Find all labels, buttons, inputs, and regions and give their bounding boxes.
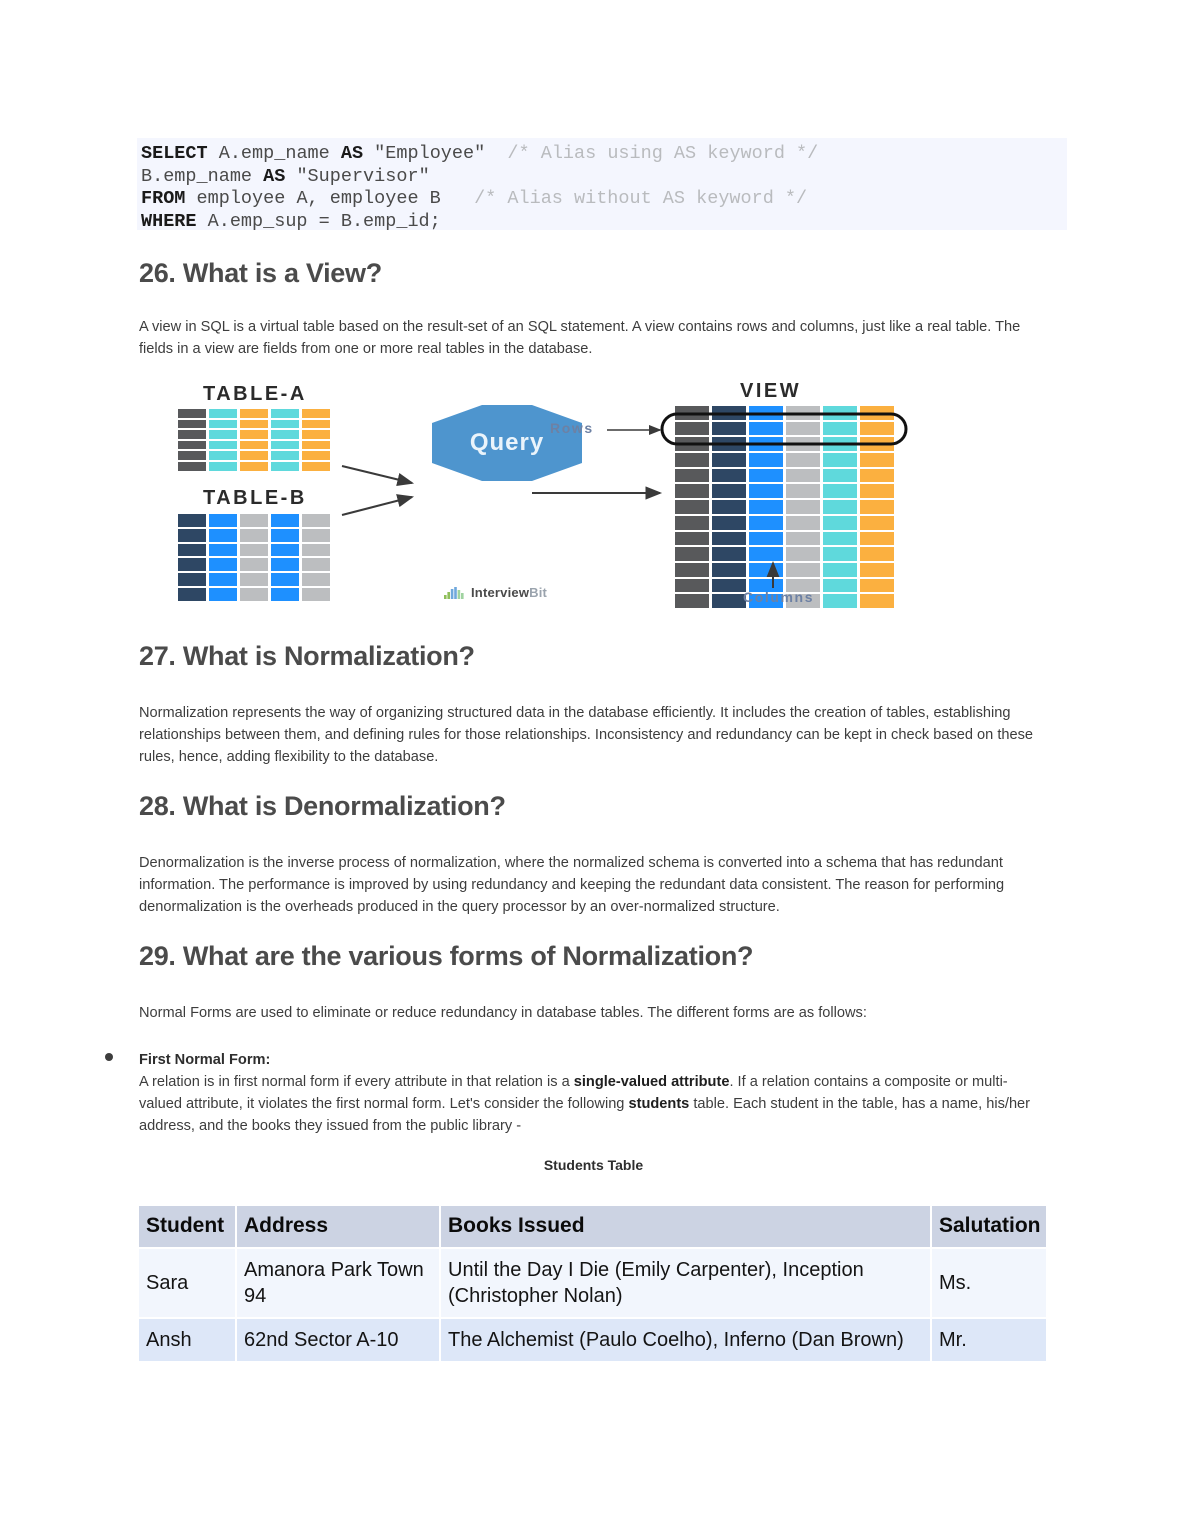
grid-cell (823, 453, 857, 467)
grid-cell (749, 484, 783, 498)
grid-cell (240, 430, 268, 439)
grid-cell (209, 573, 237, 586)
grid-column (302, 514, 330, 601)
grid-cell (823, 469, 857, 483)
grid-cell (860, 516, 894, 530)
paragraph-question-29: Normal Forms are used to eliminate or re… (139, 1002, 1039, 1024)
grid-cell (712, 484, 746, 498)
grid-cell (209, 451, 237, 460)
grid-cell (786, 563, 820, 577)
grid-cell (209, 544, 237, 557)
grid-cell (209, 529, 237, 542)
heading-question-29: 29. What are the various forms of Normal… (139, 941, 753, 972)
heading-question-28: 28. What is Denormalization? (139, 791, 506, 822)
diagram-label-columns: Columns (743, 589, 814, 605)
grid-cell (240, 514, 268, 527)
grid-cell (209, 588, 237, 601)
grid-cell (675, 422, 709, 436)
grid-cell (271, 588, 299, 601)
grid-cell (675, 500, 709, 514)
grid-cell (860, 469, 894, 483)
grid-cell (240, 573, 268, 586)
grid-cell (786, 516, 820, 530)
grid-cell (240, 558, 268, 571)
code-line-1: SELECT A.emp_name AS "Employee" /* Alias… (141, 143, 1067, 166)
grid-cell (178, 529, 206, 542)
grid-cell (209, 462, 237, 471)
interviewbit-logo-icon (443, 586, 467, 600)
grid-cell (178, 451, 206, 460)
grid-cell (178, 462, 206, 471)
grid-cell (749, 406, 783, 420)
grid-cell (823, 406, 857, 420)
grid-cell (302, 514, 330, 527)
query-label: Query (432, 429, 582, 457)
grid-cell (675, 516, 709, 530)
diagram-label-view: VIEW (740, 380, 801, 403)
grid-cell (712, 453, 746, 467)
grid-cell (712, 547, 746, 561)
table-row: Sara Amanora Park Town 94 Until the Day … (139, 1249, 1046, 1317)
grid-cell (860, 484, 894, 498)
grid-cell (712, 532, 746, 546)
grid-column (178, 514, 206, 601)
grid-cell (860, 406, 894, 420)
grid-cell (675, 453, 709, 467)
grid-cell (749, 422, 783, 436)
grid-cell (271, 462, 299, 471)
grid-column (271, 409, 299, 471)
students-table-caption: Students Table (0, 1157, 1187, 1173)
grid-cell (209, 558, 237, 571)
column-header-address: Address (237, 1206, 439, 1247)
grid-cell (178, 544, 206, 557)
grid-cell (675, 532, 709, 546)
grid-cell (749, 500, 783, 514)
cell-books-issued: The Alchemist (Paulo Coelho), Inferno (D… (441, 1319, 930, 1361)
grid-cell (860, 437, 894, 451)
grid-cell (271, 558, 299, 571)
grid-cell (786, 547, 820, 561)
grid-cell (749, 563, 783, 577)
grid-cell (240, 588, 268, 601)
column-header-books-issued: Books Issued (441, 1206, 930, 1247)
grid-cell (786, 422, 820, 436)
table-header-row: Student Address Books Issued Salutation (139, 1206, 1046, 1247)
grid-column (302, 409, 330, 471)
grid-cell (786, 406, 820, 420)
grid-cell (178, 409, 206, 418)
grid-cell (712, 500, 746, 514)
grid-cell (302, 573, 330, 586)
paragraph-question-26: A view in SQL is a virtual table based o… (139, 316, 1041, 360)
grid-column (209, 514, 237, 601)
grid-cell (860, 500, 894, 514)
grid-cell (240, 462, 268, 471)
cell-student: Sara (139, 1249, 235, 1317)
grid-cell (823, 594, 857, 608)
grid-cell (271, 420, 299, 429)
grid-cell (209, 514, 237, 527)
diagram-grid-table-a (178, 409, 330, 471)
grid-cell (240, 420, 268, 429)
grid-cell (786, 469, 820, 483)
grid-cell (749, 437, 783, 451)
diagram-label-table-a: TABLE-A (203, 383, 307, 406)
paragraph-question-27: Normalization represents the way of orga… (139, 702, 1044, 768)
grid-cell (302, 430, 330, 439)
grid-cell (675, 406, 709, 420)
grid-cell (302, 420, 330, 429)
grid-cell (178, 573, 206, 586)
heading-question-27: 27. What is Normalization? (139, 641, 475, 672)
grid-cell (712, 563, 746, 577)
grid-cell (823, 516, 857, 530)
grid-cell (749, 469, 783, 483)
cell-student: Ansh (139, 1319, 235, 1361)
grid-cell (675, 484, 709, 498)
view-diagram: TABLE-A TABLE-B VIEW (160, 375, 922, 615)
grid-cell (271, 573, 299, 586)
grid-cell (271, 514, 299, 527)
table-row: Ansh 62nd Sector A-10 The Alchemist (Pau… (139, 1319, 1046, 1361)
grid-cell (675, 547, 709, 561)
grid-column (240, 514, 268, 601)
grid-column (271, 514, 299, 601)
grid-cell (712, 469, 746, 483)
cell-salutation: Ms. (932, 1249, 1046, 1317)
grid-cell (823, 532, 857, 546)
grid-cell (302, 441, 330, 450)
grid-cell (786, 532, 820, 546)
grid-cell (178, 430, 206, 439)
grid-cell (749, 547, 783, 561)
grid-cell (749, 453, 783, 467)
grid-cell (786, 453, 820, 467)
bullet-marker-first-normal-form (105, 1053, 113, 1061)
grid-cell (860, 594, 894, 608)
grid-cell (712, 437, 746, 451)
grid-cell (240, 529, 268, 542)
grid-cell (749, 516, 783, 530)
paragraph-question-28: Denormalization is the inverse process o… (139, 852, 1033, 918)
sql-code-block: SELECT A.emp_name AS "Employee" /* Alias… (137, 138, 1067, 230)
grid-cell (271, 544, 299, 557)
grid-cell (675, 563, 709, 577)
grid-cell (209, 420, 237, 429)
grid-cell (860, 563, 894, 577)
grid-column (749, 406, 783, 608)
grid-cell (823, 579, 857, 593)
grid-cell (675, 594, 709, 608)
grid-cell (178, 514, 206, 527)
grid-cell (209, 430, 237, 439)
grid-cell (178, 441, 206, 450)
grid-cell (712, 406, 746, 420)
grid-cell (675, 437, 709, 451)
cell-salutation: Mr. (932, 1319, 1046, 1361)
grid-cell (240, 441, 268, 450)
grid-cell (823, 484, 857, 498)
grid-cell (302, 451, 330, 460)
grid-cell (271, 441, 299, 450)
grid-cell (302, 529, 330, 542)
students-table: Student Address Books Issued Salutation … (137, 1204, 1048, 1363)
interviewbit-watermark: InterviewBit (443, 585, 547, 600)
grid-cell (302, 544, 330, 557)
code-line-3: FROM employee A, employee B /* Alias wit… (141, 188, 1067, 211)
cell-address: 62nd Sector A-10 (237, 1319, 439, 1361)
grid-cell (209, 409, 237, 418)
grid-cell (178, 420, 206, 429)
grid-column (823, 406, 857, 608)
grid-cell (860, 453, 894, 467)
column-header-salutation: Salutation (932, 1206, 1046, 1247)
grid-column (178, 409, 206, 471)
diagram-grid-view (675, 406, 894, 608)
grid-cell (860, 579, 894, 593)
grid-cell (240, 451, 268, 460)
grid-cell (675, 579, 709, 593)
grid-cell (178, 558, 206, 571)
cell-address: Amanora Park Town 94 (237, 1249, 439, 1317)
grid-cell (271, 529, 299, 542)
cell-books-issued: Until the Day I Die (Emily Carpenter), I… (441, 1249, 930, 1317)
grid-cell (712, 516, 746, 530)
grid-cell (271, 451, 299, 460)
grid-cell (302, 588, 330, 601)
grid-column (209, 409, 237, 471)
grid-cell (271, 409, 299, 418)
grid-cell (860, 532, 894, 546)
column-header-student: Student (139, 1206, 235, 1247)
grid-cell (178, 588, 206, 601)
grid-cell (712, 579, 746, 593)
grid-cell (302, 558, 330, 571)
grid-cell (823, 437, 857, 451)
grid-cell (823, 563, 857, 577)
grid-cell (271, 430, 299, 439)
interviewbit-wordmark: InterviewBit (471, 585, 547, 600)
code-line-2: B.emp_name AS "Supervisor" (141, 166, 1067, 189)
grid-column (240, 409, 268, 471)
grid-column (786, 406, 820, 608)
grid-cell (749, 532, 783, 546)
grid-cell (823, 547, 857, 561)
grid-cell (786, 500, 820, 514)
list-item-first-normal-form: First Normal Form: A relation is in firs… (139, 1050, 1041, 1137)
grid-cell (712, 594, 746, 608)
grid-column (712, 406, 746, 608)
grid-column (675, 406, 709, 608)
bullet-title: First Normal Form: (139, 1050, 1041, 1071)
grid-column (860, 406, 894, 608)
grid-cell (786, 484, 820, 498)
document-page: SELECT A.emp_name AS "Employee" /* Alias… (0, 0, 1187, 1536)
grid-cell (240, 544, 268, 557)
diagram-label-table-b: TABLE-B (203, 487, 307, 510)
grid-cell (786, 437, 820, 451)
grid-cell (860, 422, 894, 436)
grid-cell (209, 441, 237, 450)
code-line-4: WHERE A.emp_sup = B.emp_id; (141, 211, 1067, 234)
grid-cell (712, 422, 746, 436)
grid-cell (302, 462, 330, 471)
grid-cell (823, 422, 857, 436)
diagram-grid-table-b (178, 514, 330, 601)
grid-cell (302, 409, 330, 418)
heading-question-26: 26. What is a View? (139, 258, 382, 289)
bullet-body: A relation is in first normal form if ev… (139, 1071, 1041, 1137)
grid-cell (675, 469, 709, 483)
grid-cell (823, 500, 857, 514)
grid-cell (240, 409, 268, 418)
grid-cell (860, 547, 894, 561)
